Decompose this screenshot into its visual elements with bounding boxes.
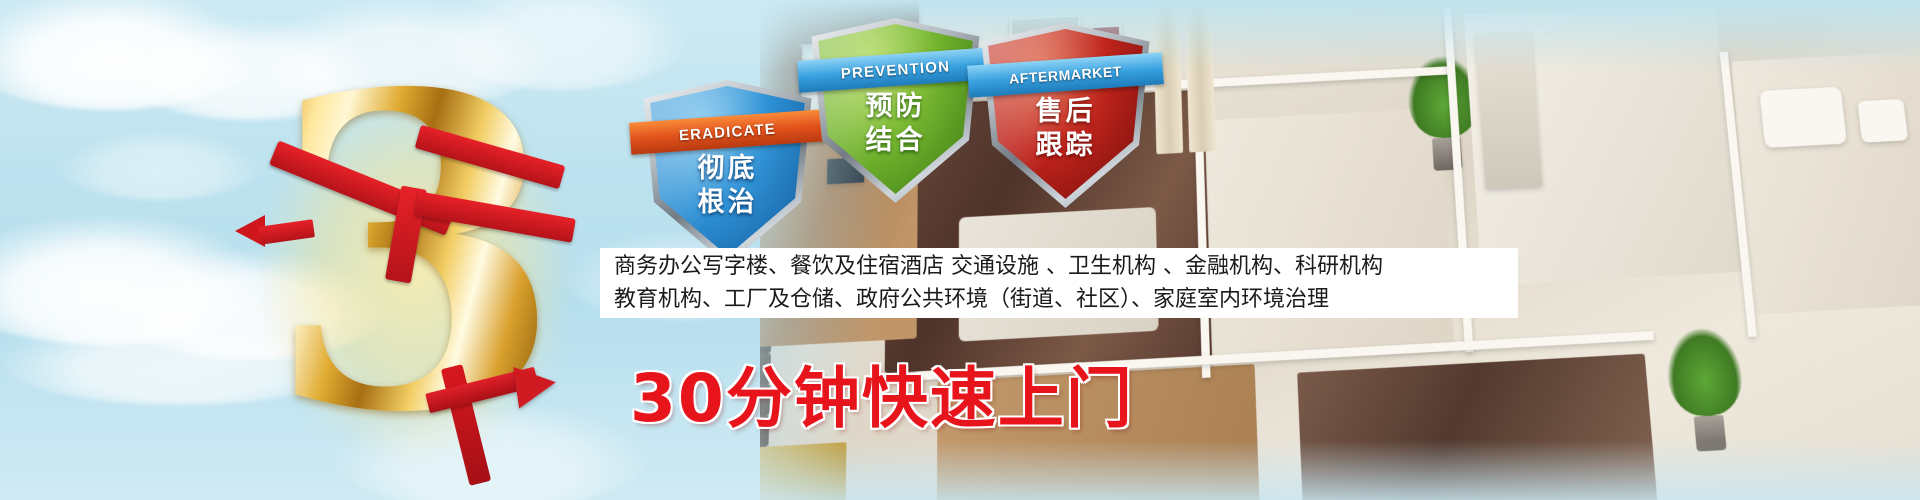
badge-eradicate[interactable]: 彻底 根治 ERADICATE: [640, 80, 815, 265]
badge-prevention[interactable]: 预防 结合 PREVENTION: [808, 18, 983, 203]
fridge: [1475, 31, 1542, 189]
kitchen-upper-cabinet: [760, 442, 847, 500]
arrow-head: [513, 361, 558, 408]
badge-cn-line1: 预防: [808, 90, 983, 124]
badge-aftermarket[interactable]: 售后 跟踪 AFTERMARKET: [978, 23, 1153, 208]
plant-leaves: [1664, 327, 1746, 419]
red-arrow-icon: [420, 352, 560, 422]
badge-chinese-text: 售后 跟踪: [978, 95, 1153, 163]
service-scope-line-2: 教育机构、工厂及仓储、政府公共环境（街道、社区）、家庭室内环境治理: [614, 283, 1504, 316]
badge-chinese-text: 彻底 根治: [640, 152, 815, 220]
badge-cn-line2: 跟踪: [978, 129, 1153, 163]
badge-english-label: AFTERMARKET: [1009, 63, 1123, 87]
plant-pot: [1694, 415, 1727, 451]
lounge-floor: [1297, 354, 1663, 500]
badge-chinese-text: 预防 结合: [808, 90, 983, 158]
badge-cn-line2: 根治: [640, 186, 815, 220]
headline-text: 30分钟快速上门: [630, 345, 1134, 441]
badge-english-label: PREVENTION: [840, 58, 950, 83]
badge-cn-line1: 彻底: [640, 152, 815, 186]
potted-plant: [1664, 327, 1749, 453]
badge-cn-line1: 售后: [978, 95, 1153, 129]
service-scope-line-1: 商务办公写字楼、餐饮及住宿酒店 交通设施 、卫生机构 、金融机构、科研机构: [614, 250, 1504, 283]
sink: [1857, 99, 1908, 143]
service-scope-panel: 商务办公写字楼、餐饮及住宿酒店 交通设施 、卫生机构 、金融机构、科研机构 教育…: [600, 248, 1518, 318]
badge-cn-line2: 结合: [808, 124, 983, 158]
badge-english-label: ERADICATE: [678, 120, 776, 144]
bathtub: [1759, 87, 1847, 148]
promo-banner: 3 彻底 根治 ERADICATE: [0, 0, 1920, 500]
cloud-shape: [60, 130, 260, 200]
badge-group: 彻底 根治 ERADICATE 预防 结合 PREVENTION: [640, 18, 1240, 238]
